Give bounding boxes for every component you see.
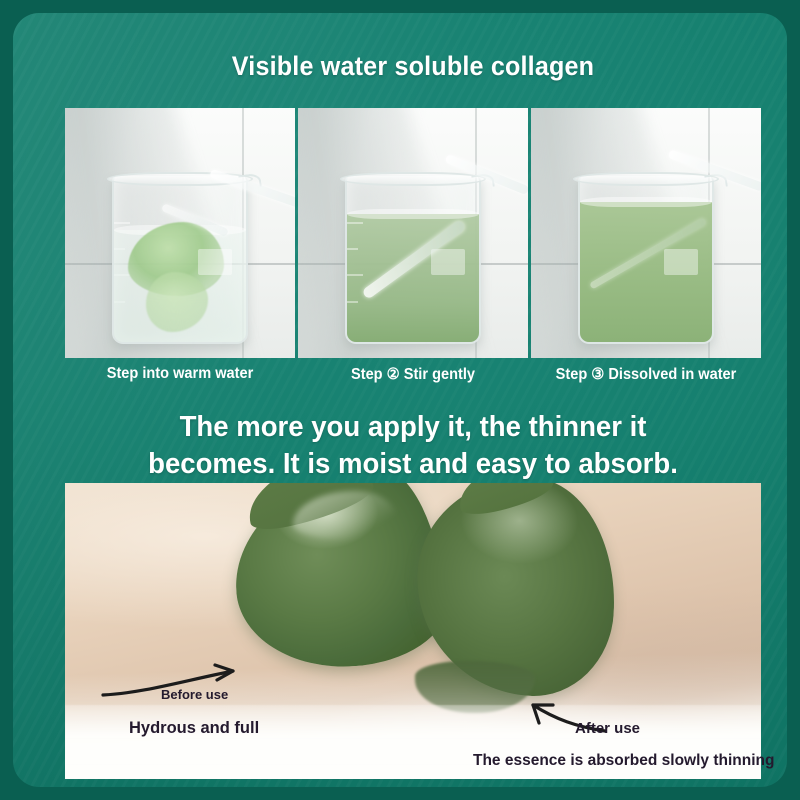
beaker-rim bbox=[573, 172, 719, 186]
beaker-label bbox=[198, 249, 232, 275]
beaker-label bbox=[664, 249, 698, 275]
step-caption-1: Step into warm water bbox=[72, 365, 288, 383]
product-infographic: Visible water soluble collagen bbox=[0, 0, 800, 800]
beaker-label bbox=[431, 249, 465, 275]
headline-line-2: becomes. It is moist and easy to absorb. bbox=[82, 446, 743, 483]
after-use-description: The essence is absorbed slowly thinning bbox=[473, 752, 774, 770]
beaker-icon bbox=[578, 176, 714, 344]
step-caption-2: Step ② Stir gently bbox=[305, 365, 521, 384]
beaker-icon bbox=[345, 176, 481, 344]
step-captions: Step into warm water Step ② Stir gently … bbox=[65, 365, 761, 397]
step-photo-1 bbox=[65, 108, 295, 358]
headline-line-1: The more you apply it, the thinner it bbox=[82, 409, 743, 446]
after-use-label: After use bbox=[575, 720, 640, 737]
step-caption-3: Step ③ Dissolved in water bbox=[538, 365, 754, 384]
page-title: Visible water soluble collagen bbox=[41, 51, 785, 82]
steps-photo-row bbox=[65, 108, 761, 358]
headline: The more you apply it, the thinner it be… bbox=[82, 409, 743, 483]
before-use-description: Hydrous and full bbox=[129, 719, 259, 738]
beaker-icon bbox=[112, 176, 248, 344]
before-use-label: Before use bbox=[161, 687, 228, 702]
step-photo-2 bbox=[298, 108, 528, 358]
infographic-card: Visible water soluble collagen bbox=[13, 13, 787, 787]
step-photo-3 bbox=[531, 108, 761, 358]
beaker-rim bbox=[340, 172, 486, 186]
